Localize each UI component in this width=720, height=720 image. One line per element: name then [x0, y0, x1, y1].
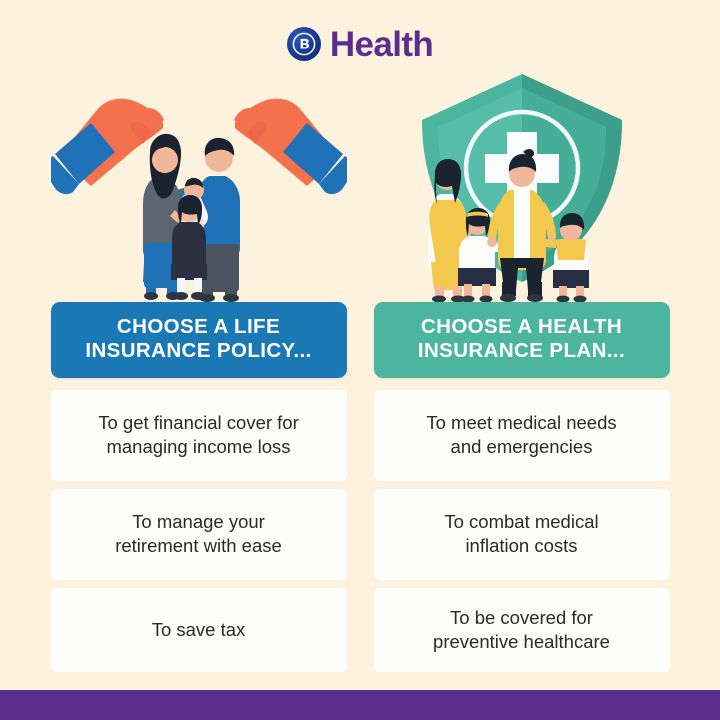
banner-health-line2: INSURANCE PLAN...: [418, 339, 625, 362]
banner-life-line1: CHOOSE A LIFE: [117, 315, 280, 338]
card-text-line2: and emergencies: [451, 436, 593, 457]
column-health-insurance: CHOOSE A HEALTH INSURANCE PLAN... To mee…: [374, 68, 670, 690]
banner-life-insurance[interactable]: CHOOSE A LIFE INSURANCE POLICY...: [51, 302, 347, 378]
brand-header: Health: [0, 22, 720, 66]
list-item: To save tax: [51, 588, 347, 672]
bfinance-b-logo-icon: [287, 27, 321, 61]
card-text-line1: To save tax: [152, 619, 246, 640]
card-text-line2: retirement with ease: [115, 535, 282, 556]
brand-name: Health: [330, 27, 433, 62]
list-item: To combat medical inflation costs: [374, 489, 670, 580]
banner-life-line2: INSURANCE POLICY...: [85, 339, 311, 362]
card-text-line1: To be covered for: [450, 607, 593, 628]
protecting-hands-over-family-illustration: [51, 68, 347, 302]
list-item: To meet medical needs and emergencies: [374, 390, 670, 481]
list-item: To get financial cover for managing inco…: [51, 390, 347, 481]
column-life-insurance: CHOOSE A LIFE INSURANCE POLICY... To get…: [51, 68, 347, 690]
green-medical-shield-with-family-illustration: [374, 68, 670, 302]
card-text-line1: To get financial cover for: [98, 412, 299, 433]
banner-health-line1: CHOOSE A HEALTH: [421, 315, 622, 338]
card-text-line1: To combat medical: [444, 511, 598, 532]
card-text-line1: To meet medical needs: [426, 412, 616, 433]
card-text-line2: inflation costs: [465, 535, 577, 556]
list-item: To manage your retirement with ease: [51, 489, 347, 580]
card-text-line1: To manage your: [132, 511, 265, 532]
list-item: To be covered for preventive healthcare: [374, 588, 670, 672]
footer-accent-bar: [0, 690, 720, 720]
card-text-line2: managing income loss: [106, 436, 290, 457]
comparison-columns: CHOOSE A LIFE INSURANCE POLICY... To get…: [0, 68, 720, 690]
card-list-health-insurance: To meet medical needs and emergencies To…: [374, 390, 670, 672]
banner-health-insurance[interactable]: CHOOSE A HEALTH INSURANCE PLAN...: [374, 302, 670, 378]
card-list-life-insurance: To get financial cover for managing inco…: [51, 390, 347, 672]
card-text-line2: preventive healthcare: [433, 631, 610, 652]
